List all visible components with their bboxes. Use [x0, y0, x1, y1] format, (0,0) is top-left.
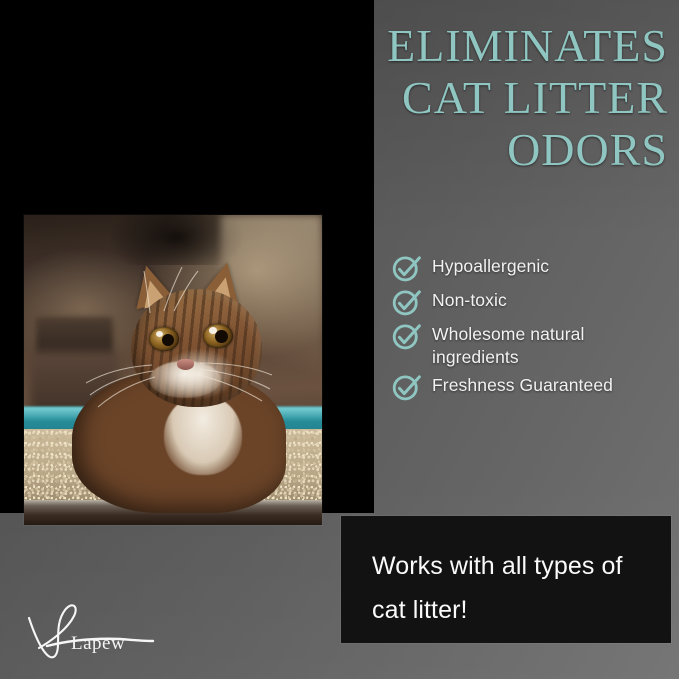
feature-label: Freshness Guaranteed	[432, 371, 613, 397]
kitten-eye-right	[203, 324, 233, 349]
headline-line-1: ELIMINATES	[300, 20, 668, 72]
list-item: Freshness Guaranteed	[392, 371, 672, 403]
headline-line-2: CAT LITTER	[300, 72, 668, 124]
check-circle-icon	[392, 321, 422, 351]
headline-line-3: ODORS	[300, 124, 668, 176]
feature-label: Hypoallergenic	[432, 252, 549, 278]
callout-text: Works with all types of cat litter!	[372, 544, 647, 632]
lapew-script-flourish-icon	[25, 596, 175, 668]
check-circle-icon	[392, 372, 422, 402]
feature-label: Wholesome natural ingredients	[432, 320, 672, 369]
callout-box: Works with all types of cat litter!	[341, 516, 671, 643]
feature-list: Hypoallergenic Non-toxic Wholesome natur…	[392, 252, 672, 405]
check-circle-icon	[392, 287, 422, 317]
kitten-photo-scene	[24, 215, 322, 525]
list-item: Hypoallergenic	[392, 252, 672, 284]
brand-name: Lapew	[71, 633, 125, 655]
check-circle-icon	[392, 253, 422, 283]
kitten-eye-left	[149, 327, 179, 352]
kitten	[24, 215, 322, 525]
list-item: Non-toxic	[392, 286, 672, 318]
product-photo	[24, 215, 322, 525]
brand-logo: Lapew	[25, 596, 175, 668]
headline: ELIMINATES CAT LITTER ODORS	[300, 20, 668, 176]
feature-label: Non-toxic	[432, 286, 507, 312]
list-item: Wholesome natural ingredients	[392, 320, 672, 369]
product-ad-image: ELIMINATES CAT LITTER ODORS Hypoallergen…	[0, 0, 679, 679]
